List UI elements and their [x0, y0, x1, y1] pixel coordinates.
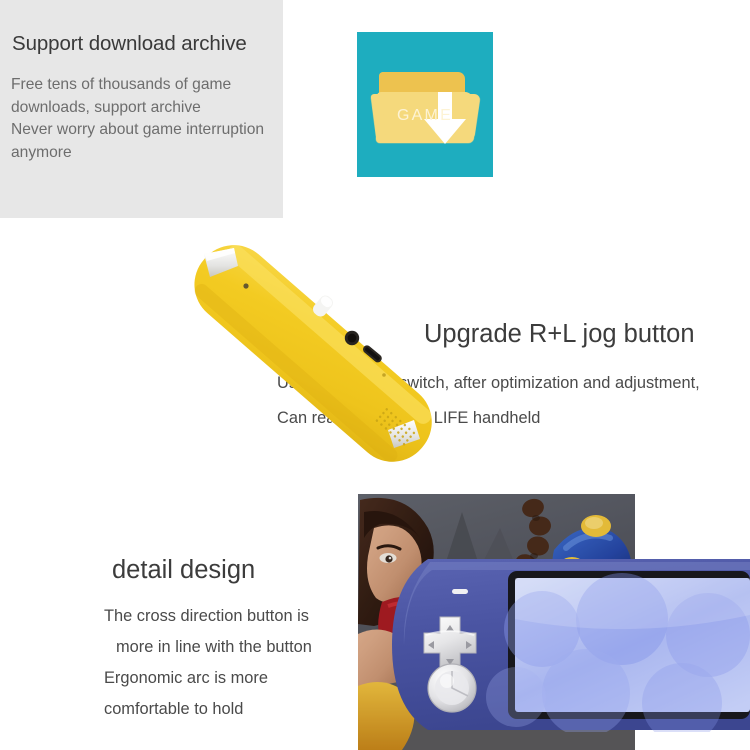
download-archive-line-1: Free tens of thousands of game	[11, 74, 296, 97]
download-archive-title: Support download archive	[12, 32, 282, 56]
folder-tab	[379, 72, 421, 82]
product-feature-page: Support download archive Free tens of th…	[0, 0, 750, 750]
folder-label: GAME	[377, 107, 473, 125]
game-download-icon: GAME	[357, 32, 493, 177]
left-shoulder-button	[204, 248, 238, 277]
download-archive-line-4: anymore	[11, 142, 296, 165]
detail-design-description: The cross direction button is more in li…	[104, 601, 366, 725]
jog-button-line-2: Can reach the feel of LIFE handheld	[277, 409, 540, 428]
headphone-jack	[345, 331, 359, 345]
status-indicator	[452, 589, 468, 594]
usb-c-port	[361, 344, 383, 364]
jog-button-line-1: Using micro-key switch, after optimizati…	[277, 374, 700, 393]
blue-handheld-console	[390, 557, 750, 732]
download-archive-description: Free tens of thousands of game downloads…	[11, 74, 296, 164]
download-archive-line-2: downloads, support archive	[11, 97, 296, 120]
yellow-handheld-console-photo	[188, 232, 438, 472]
folder-graphic: GAME	[377, 72, 473, 145]
detail-design-line-4: comfortable to hold	[104, 694, 366, 725]
detail-design-line-1: The cross direction button is	[104, 601, 366, 632]
detail-design-line-2: more in line with the button	[104, 632, 366, 663]
jog-button-title: Upgrade R+L jog button	[424, 320, 695, 349]
reset-pinhole	[243, 283, 248, 288]
download-archive-line-3: Never worry about game interruption	[11, 119, 296, 142]
detail-design-title: detail design	[112, 556, 255, 585]
analog-stick	[428, 664, 476, 712]
detail-design-line-3: Ergonomic arc is more	[104, 663, 366, 694]
power-button	[311, 293, 336, 319]
